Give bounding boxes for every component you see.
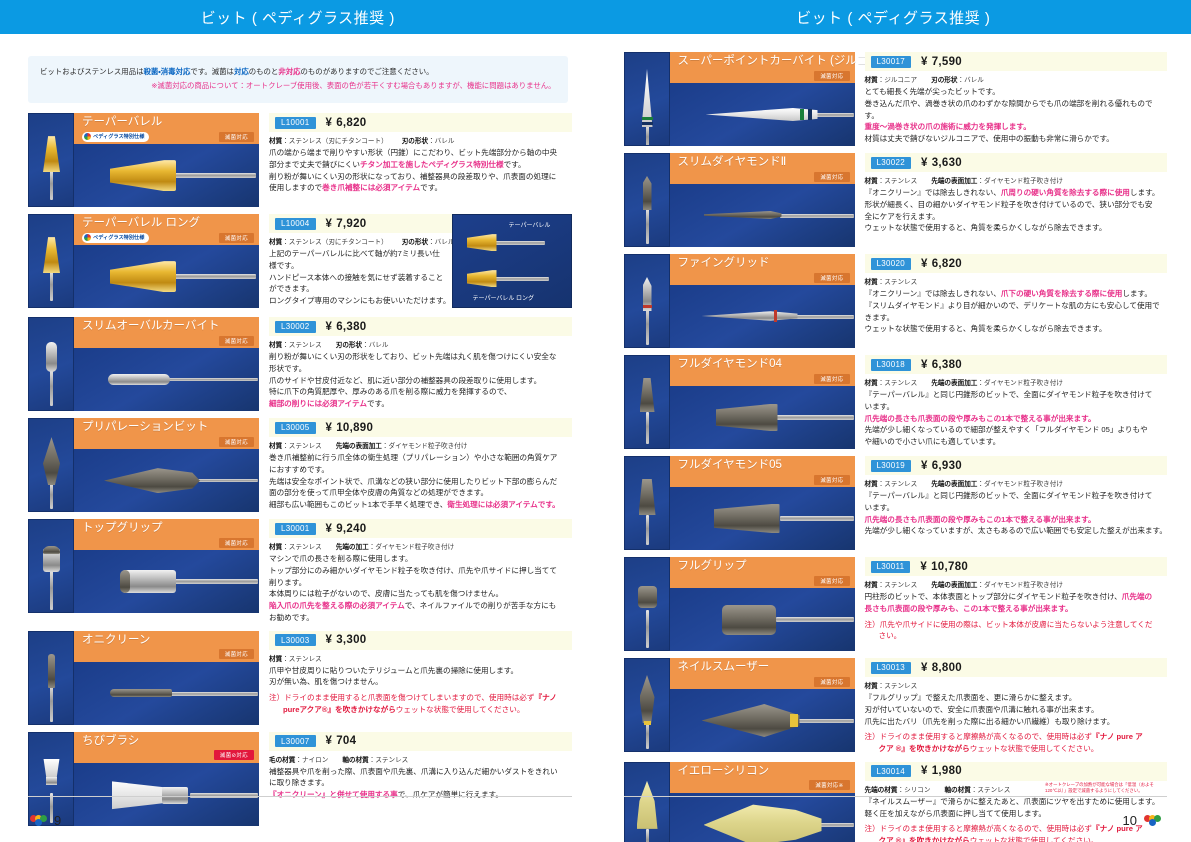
spec-primary: 材質：ステンレス	[269, 541, 322, 551]
product-badges: 滅菌対応※	[678, 780, 850, 791]
product-name: ちびブラシ	[82, 734, 253, 748]
desc-line: 爪先端の長さも爪表面の段や厚みもこの1本で整える事が出来ます。	[865, 413, 1168, 425]
product-name: オニクリーン	[82, 633, 253, 647]
product-description: 巻き爪補整前に行う爪全体の衛生処理（プリパレーション）や小さな範囲の角質ケアにお…	[269, 452, 572, 511]
sterilization-badge: 滅菌対応	[219, 437, 254, 447]
sterilization-badge: 滅菌対応	[814, 475, 849, 485]
desc-line: 『スリムダイヤモンド』より目が細かいので、デリケートな肌の方にも安心して使用で	[865, 300, 1168, 312]
notice-text-f: 非対応	[278, 67, 300, 76]
spec-label: 刃の形状	[336, 342, 362, 349]
spec-label: 先端の表面加工	[931, 178, 977, 185]
product-badges: 滅菌対応	[678, 272, 850, 283]
desc-line: 『オニクリーン』では除去しきれない、爪周りの硬い角質を除去する際に使用します。	[865, 187, 1168, 199]
product-price: ¥6,930	[921, 460, 962, 472]
spec-primary: 材質：ステンレス（刃にチタンコート）	[269, 236, 388, 246]
product-thumbnail	[624, 658, 670, 752]
product-info: L30007 ¥704 毛の材質：ナイロン 軸の材質：ステンレス 補整器具や爪を…	[259, 732, 572, 801]
spec-value: ダイヤモンド粒子吹き付け	[389, 443, 468, 450]
product-code: L10004	[275, 218, 316, 230]
product-description: 『オニクリーン』では除去しきれない、爪周りの硬い角質を除去する際に使用します。形…	[865, 187, 1168, 234]
desc-highlight: 巻き爪補整には必須アイテム	[322, 183, 420, 192]
product-photo	[670, 386, 855, 449]
right-product-list: スーパーポイントカーバイト (ジルコニア) 滅菌対応 L30017 ¥7,590…	[596, 52, 1191, 842]
product-name: スリムオーバルカーバイト	[82, 319, 253, 333]
desc-line: ウェットな状態で使用すると、角質を柔らかくしながら除去できます。	[865, 323, 1168, 335]
spec-value: ダイヤモンド粒子吹き付け	[984, 380, 1063, 387]
note-bold: pureアクア®』を吹きかけながら	[283, 705, 396, 714]
product-spec: 材質：ステンレス 刃の形状：バレル	[269, 339, 572, 349]
desc-highlight: 爪先端の	[1122, 592, 1152, 601]
yen-symbol: ¥	[326, 634, 333, 646]
spec-secondary: 軸の材質：ステンレス	[342, 754, 408, 764]
spec-value: ダイヤモンド粒子吹き付け	[984, 582, 1063, 589]
product-info: L30005 ¥10,890 材質：ステンレス 先端の表面加工：ダイヤモンド粒子…	[259, 418, 572, 511]
autoclave-note: ※オートクレーブの加熱が可能な場合は「低温（およそ120℃以）」設定で滅菌するよ…	[1045, 782, 1165, 794]
spec-label: 材質	[269, 656, 282, 663]
desc-line: 『テーパーバレル』と同じ円錐形のビットで、全面にダイヤモンド粒子を吹き付けて	[865, 389, 1168, 401]
product-title-bar: フルグリップ 滅菌対応	[670, 557, 855, 588]
product-title-bar: ネイルスムーザー 滅菌対応	[670, 658, 855, 689]
product-description: 爪甲や甘皮周りに貼りついたテリジュームと爪先裏の掃除に使用します。刃が無い為、肌…	[269, 665, 572, 689]
notice-text-g: のものがありますのでご注意ください。	[301, 67, 434, 76]
product-thumbnail	[624, 355, 670, 449]
desc-line: に取り除きます。	[269, 777, 572, 789]
product-thumbnail	[28, 113, 74, 207]
product-panel: ネイルスムーザー 滅菌対応	[670, 658, 855, 752]
brand-logo-icon	[1144, 815, 1161, 827]
spec-primary: 材質：ステンレス	[865, 175, 918, 185]
product-spec: 材質：ステンレス 先端の表面加工：ダイヤモンド粒子吹き付け	[865, 377, 1168, 387]
spec-secondary: 刃の形状：バレル	[402, 135, 455, 145]
left-page-number: 9	[54, 813, 61, 828]
desc-line: 部分まで丈夫で錆びにくいチタン加工を施したペディグラス特別仕様です。	[269, 159, 572, 171]
note-tail: ウェットな状態で使用してください。	[396, 705, 525, 714]
spec-value: ステンレス	[884, 279, 917, 286]
product-thumbnail	[624, 52, 670, 146]
product-spec: 材質：ステンレス	[865, 680, 1168, 690]
product-code-price: L30020 ¥6,820	[865, 254, 1168, 273]
product-price: ¥7,590	[921, 56, 962, 68]
product-panel: スーパーポイントカーバイト (ジルコニア) 滅菌対応	[670, 52, 855, 146]
left-product-list: テーパーバレル ペディグラス特別仕様滅菌対応 L10001 ¥6,820 材質：…	[0, 113, 596, 826]
product-code-price: L30019 ¥6,930	[865, 456, 1168, 475]
inset-label-bottom: テーパーバレル ロング	[473, 293, 535, 302]
spec-label: 材質	[865, 178, 878, 185]
desc-line: 材質は丈夫で錆びないジルコニアで、使用中の振動も非常に滑らかです。	[865, 133, 1168, 145]
spec-secondary: 刃の形状：バレル	[336, 339, 389, 349]
product-spec: 材質：ステンレス 先端の表面加工：ダイヤモンド粒子吹き付け	[865, 478, 1168, 488]
product-badges: 滅菌対応	[82, 537, 254, 548]
product-code: L10001	[275, 117, 316, 129]
product-info: L30022 ¥3,630 材質：ステンレス 先端の表面加工：ダイヤモンド粒子吹…	[855, 153, 1168, 234]
spec-secondary: 先端の加工：ダイヤモンド粒子吹き付け	[336, 541, 455, 551]
product-badges: 滅菌対応	[678, 373, 850, 384]
desc-highlight: 爪下の硬い角質を除去する際に使用	[1001, 289, 1123, 298]
product-name: スリムダイヤモンドⅡ	[678, 155, 849, 169]
spec-secondary: 先端の表面加工：ダイヤモンド粒子吹き付け	[931, 579, 1063, 589]
notice-text-e: のものと	[249, 67, 279, 76]
spec-label: 材質	[865, 481, 878, 488]
spec-primary: 材質：ステンレス	[865, 579, 918, 589]
spec-label: 刃の形状	[402, 138, 428, 145]
product-price: ¥6,820	[921, 258, 962, 270]
desc-highlight: 爪先端の長さも爪表面の段や厚みもこの1本で整える事が出来ます。	[865, 515, 1096, 524]
product-title-bar: イエローシリコン 滅菌対応※	[670, 762, 855, 793]
desc-line: 特に爪下の角質肥厚や、厚みのある爪を削る際に威力を発揮するので、	[269, 386, 572, 398]
product-description: 爪の端から端まで削りやすい形状（円錐）にこだわり、ビット先端部分から軸の中央部分…	[269, 147, 572, 194]
product-title-bar: オニクリーン 滅菌対応	[74, 631, 259, 662]
product-spec: 材質：ステンレス 先端の表面加工：ダイヤモンド粒子吹き付け	[865, 175, 1168, 185]
desc-line: マシンで爪の長さを削る際に使用します。	[269, 553, 572, 565]
note-bold: 『ナノ	[534, 693, 556, 702]
spec-label: 材質	[269, 342, 282, 349]
product-info: L10001 ¥6,820 材質：ステンレス（刃にチタンコート） 刃の形状：バレ…	[259, 113, 572, 194]
product-row: ネイルスムーザー 滅菌対応 L30013 ¥8,800 材質：ステンレス 『フル…	[596, 658, 1191, 755]
product-photo	[670, 83, 855, 146]
note-line-2: クア ®』を吹きかけながらウェットな状態で使用してください。	[865, 743, 1168, 755]
footer-rule	[28, 796, 572, 797]
product-code: L30007	[275, 735, 316, 747]
right-page-header: ビット ( ペディグラス推奨 )	[596, 0, 1191, 34]
spec-secondary: 先端の表面加工：ダイヤモンド粒子吹き付け	[931, 175, 1063, 185]
product-title-bar: スーパーポイントカーバイト (ジルコニア) 滅菌対応	[670, 52, 855, 83]
spec-secondary: 刃の形状：バレル	[402, 236, 455, 246]
product-thumbnail	[28, 418, 74, 512]
left-page: ビット ( ペディグラス推奨 ) ビットおよびステンレス用品は殺菌・消毒対応です…	[0, 0, 596, 842]
spec-primary: 材質：ステンレス	[269, 339, 322, 349]
notice-text-d: 対応	[234, 67, 249, 76]
desc-line: 細部も広い範囲もこのビット1本で手早く処理でき、衛生処理には必須アイテムです。	[269, 499, 572, 511]
product-panel: プリパレーションビット 滅菌対応	[74, 418, 259, 512]
product-photo	[74, 662, 259, 725]
product-description: 削り粉が舞いにくい刃の形状をしており、ビット先端は丸く肌を傷つけにくい安全な形状…	[269, 351, 572, 410]
spec-label: 材質	[269, 138, 282, 145]
sterilization-badge: 滅菌対応	[814, 677, 849, 687]
note-line-2: クア ®』を吹きかけながらウェットな状態で使用してください。	[865, 835, 1168, 842]
product-code: L30020	[871, 258, 912, 270]
product-description: 『オニクリーン』では除去しきれない、爪下の硬い角質を除去する際に使用します。『ス…	[865, 288, 1168, 335]
sterilization-badge: 滅菌⊘対応	[214, 750, 254, 760]
product-code-price: L30001 ¥9,240	[269, 519, 572, 538]
yen-symbol: ¥	[326, 422, 333, 434]
product-badges: 滅菌⊘対応	[82, 750, 254, 761]
product-panel: フルグリップ 滅菌対応	[670, 557, 855, 651]
desc-line: 円柱形のビットで、本体表面とトップ部分にダイヤモンド粒子を吹き付け、爪先端の	[865, 591, 1168, 603]
note-bold: クア ®』を吹きかけながら	[879, 836, 970, 842]
product-code: L30005	[275, 422, 316, 434]
sterilization-badge: 滅菌対応	[219, 538, 254, 548]
spec-value: ステンレス	[884, 178, 917, 185]
spec-label: 先端の材質	[865, 787, 898, 794]
spec-value: ダイヤモンド粒子吹き付け	[984, 178, 1063, 185]
yen-symbol: ¥	[326, 735, 333, 747]
spec-label: 先端の表面加工	[931, 481, 977, 488]
product-row: フルダイヤモンド04 滅菌対応 L30018 ¥6,380 材質：ステンレス 先…	[596, 355, 1191, 449]
desc-line: 先端は安全なポイント状で、爪溝などの狭い部分に使用したりビット下部の膨らんだ	[269, 476, 572, 488]
product-panel: スリムオーバルカーバイト 滅菌対応	[74, 317, 259, 411]
product-panel: トップグリップ 滅菌対応	[74, 519, 259, 613]
spec-label: 材質	[269, 443, 282, 450]
notice-line-2: ※滅菌対応の商品について：オートクレーブ使用後、表面の色が若干くすむ場合もありま…	[40, 79, 556, 93]
product-info: L30017 ¥7,590 材質：ジルコニア 刃の形状：バレル とても細長く先端…	[855, 52, 1168, 145]
sterilization-badge: 滅菌対応	[814, 273, 849, 283]
product-row: テーパーバレル ロング ペディグラス特別仕様滅菌対応 L10004 ¥7,920…	[0, 214, 596, 310]
product-code: L30002	[275, 321, 316, 333]
usage-warning: 注）ドライのまま使用すると摩擦熱が高くなるので、使用時は必ず『ナノ pure ア…	[865, 731, 1168, 755]
spec-value: ステンレス	[977, 787, 1010, 794]
spec-value: ナイロン	[302, 757, 328, 764]
desc-highlight: 『オニクリーン』と併せて使用する事	[269, 790, 398, 799]
spec-value: バレル	[435, 138, 455, 145]
spec-label: 材質	[865, 380, 878, 387]
spec-primary: 材質：ステンレス	[865, 276, 918, 286]
product-price: ¥10,780	[920, 561, 968, 573]
product-info: L30011 ¥10,780 材質：ステンレス 先端の表面加工：ダイヤモンド粒子…	[855, 557, 1168, 642]
spec-value: ステンレス（刃にチタンコート）	[289, 138, 388, 145]
spec-value: ステンレス	[884, 582, 917, 589]
product-title-bar: トップグリップ 滅菌対応	[74, 519, 259, 550]
product-name: ネイルスムーザー	[678, 660, 849, 674]
spec-primary: 材質：ステンレス	[865, 478, 918, 488]
desc-highlight: チタン加工を施したペディグラス特別仕様	[360, 160, 504, 169]
yen-symbol: ¥	[921, 765, 928, 777]
comparison-inset: テーパーバレル テーパーバレル ロング	[452, 214, 572, 308]
spec-primary: 材質：ステンレス	[269, 440, 322, 450]
product-info: L30002 ¥6,380 材質：ステンレス 刃の形状：バレル 削り粉が舞いにく…	[259, 317, 572, 410]
pedigrass-badge-label: ペディグラス特別仕様	[93, 234, 144, 241]
product-name: スーパーポイントカーバイト (ジルコニア)	[678, 54, 849, 68]
sterilization-badge: 滅菌対応	[219, 336, 254, 346]
product-price: ¥1,980	[921, 765, 962, 777]
desc-line: とても細長く先端が尖ったビットです。	[865, 86, 1168, 98]
notice-line-1: ビットおよびステンレス用品は殺菌・消毒対応です。滅菌は対応のものと非対応のものが…	[40, 65, 556, 79]
product-row: スリムダイヤモンドⅡ 滅菌対応 L30022 ¥3,630 材質：ステンレス 先…	[596, 153, 1191, 247]
usage-warning: 注）爪先や爪サイドに使用の際は、ビット本体が皮膚に当たらないよう注意してください…	[865, 619, 1168, 643]
sterilization-badge: 滅菌対応	[219, 132, 254, 142]
product-name: フルダイヤモンド04	[678, 357, 849, 371]
product-spec: 材質：ステンレス	[865, 276, 1168, 286]
yen-symbol: ¥	[921, 56, 928, 68]
spec-label: 先端の表面加工	[931, 582, 977, 589]
spec-primary: 先端の材質：シリコン	[865, 784, 931, 794]
left-page-header: ビット ( ペディグラス推奨 )	[0, 0, 596, 34]
product-description: とても細長く先端が尖ったビットです。巻き込んだ爪や、渦巻き状の爪のわずかな隙間か…	[865, 86, 1168, 145]
note-text: 注）爪先や爪サイドに使用の際は、ビット本体が皮膚に当たらないよう注意してくだ	[865, 620, 1153, 629]
product-photo	[74, 550, 259, 613]
desc-line: 刃が無い為、肌を傷つけません。	[269, 676, 572, 688]
product-code: L30018	[871, 359, 912, 371]
product-code-price: L30018 ¥6,380	[865, 355, 1168, 374]
product-thumbnail	[28, 519, 74, 613]
product-price: ¥9,240	[326, 523, 367, 535]
product-name: ファイングリッド	[678, 256, 849, 270]
product-code-price: L30013 ¥8,800	[865, 658, 1168, 677]
desc-line: 本体周りには粒子がないので、皮膚に当たっても肌を傷つけません。	[269, 588, 572, 600]
product-name: テーパーバレル ロング	[82, 216, 253, 230]
product-spec: 材質：ステンレス 先端の表面加工：ダイヤモンド粒子吹き付け	[865, 579, 1168, 589]
product-description: マシンで爪の長さを削る際に使用します。トップ部分にのみ細かいダイヤモンド粒子を吹…	[269, 553, 572, 624]
product-price: ¥6,380	[326, 321, 367, 333]
product-panel: テーパーバレル ロング ペディグラス特別仕様滅菌対応	[74, 214, 259, 308]
notice-text-a: ビットおよびステンレス用品は	[40, 67, 143, 76]
desc-highlight: 爪先端の長さも爪表面の段や厚みもこの1本で整える事が出来ます。	[865, 414, 1096, 423]
spec-value: バレル	[964, 77, 984, 84]
spec-value: ジルコニア	[884, 77, 917, 84]
product-name: プリパレーションビット	[82, 420, 253, 434]
right-page-number-block: 10	[1123, 813, 1161, 828]
product-title-bar: スリムダイヤモンドⅡ 滅菌対応	[670, 153, 855, 184]
spec-label: 軸の材質	[944, 787, 970, 794]
product-panel: フルダイヤモンド04 滅菌対応	[670, 355, 855, 449]
yen-symbol: ¥	[921, 258, 928, 270]
desc-line: 爪先に出たバリ（爪先を削った際に出る細かい爪繊維）も取り除けます。	[865, 716, 1168, 728]
product-name: テーパーバレル	[82, 115, 253, 129]
product-spec: 材質：ジルコニア 刃の形状：バレル	[865, 74, 1168, 84]
product-photo	[670, 689, 855, 752]
note-text: 注）ドライのまま使用すると爪表面を傷つけてしまいますので、使用時は必ず	[269, 693, 534, 702]
product-badges: 滅菌対応	[678, 474, 850, 485]
product-title-bar: フルダイヤモンド05 滅菌対応	[670, 456, 855, 487]
product-code: L30019	[871, 460, 912, 472]
desc-highlight: 重度～渦巻き状の爪の施術に威力を発揮します。	[865, 122, 1031, 131]
spec-primary: 毛の材質：ナイロン	[269, 754, 328, 764]
product-info: L30019 ¥6,930 材質：ステンレス 先端の表面加工：ダイヤモンド粒子吹…	[855, 456, 1168, 537]
pedigrass-special-badge: ペディグラス特別仕様	[82, 233, 149, 243]
right-footer: 10	[596, 802, 1191, 828]
product-spec: 毛の材質：ナイロン 軸の材質：ステンレス	[269, 754, 572, 764]
product-code-price: L30005 ¥10,890	[269, 418, 572, 437]
sterilization-badge: 滅菌対応	[814, 71, 849, 81]
inset-label-top: テーパーバレル	[509, 220, 551, 229]
spec-secondary: 先端の表面加工：ダイヤモンド粒子吹き付け	[931, 478, 1063, 488]
product-row: ファイングリッド 滅菌対応 L30020 ¥6,820 材質：ステンレス 『オニ…	[596, 254, 1191, 348]
desc-highlight: 細部の削りには必須アイテム	[269, 399, 367, 408]
spec-value: シリコン	[904, 787, 930, 794]
desc-highlight: 長さも爪表面の段や厚みも、この1本で整える事が出来ます。	[865, 604, 1073, 613]
product-badges: ペディグラス特別仕様滅菌対応	[82, 131, 254, 142]
product-title-bar: ファイングリッド 滅菌対応	[670, 254, 855, 285]
product-row: テーパーバレル ペディグラス特別仕様滅菌対応 L10001 ¥6,820 材質：…	[0, 113, 596, 207]
desc-line: や細いので小さい爪にも適しています。	[865, 436, 1168, 448]
spec-label: 材質	[865, 279, 878, 286]
desc-highlight: 爪周りの硬い角質を除去する際に使用	[1001, 188, 1130, 197]
spec-secondary: 先端の表面加工：ダイヤモンド粒子吹き付け	[931, 377, 1063, 387]
desc-line: 爪のサイドや甘皮付近など、肌に近い部分の補整器具の段差取りに使用します。	[269, 375, 572, 387]
desc-line: 巻き爪補整前に行う爪全体の衛生処理（プリパレーション）や小さな範囲の角質ケア	[269, 452, 572, 464]
product-info: L30020 ¥6,820 材質：ステンレス 『オニクリーン』では除去しきれない…	[855, 254, 1168, 335]
desc-line: 補整器具や爪を削った際、爪表面や爪先裏、爪溝に入り込んだ細かいダストをきれい	[269, 766, 572, 778]
product-description: 『フルグリップ』で整えた爪表面を、更に滑らかに整えます。刃が付いていないので、安…	[865, 692, 1168, 727]
brand-logo-icon	[30, 815, 47, 827]
product-spec: 材質：ステンレス（刃にチタンコート） 刃の形状：バレル	[269, 135, 572, 145]
desc-line: います。	[865, 401, 1168, 413]
spec-secondary: 軸の材質：ステンレス	[944, 784, 1010, 794]
product-price: ¥6,820	[326, 117, 367, 129]
product-thumbnail	[624, 153, 670, 247]
yen-symbol: ¥	[921, 157, 928, 169]
desc-line: ウェットな状態で使用すると、角質を柔らかくしながら除去できます。	[865, 222, 1168, 234]
product-code-price: L30017 ¥7,590	[865, 52, 1168, 71]
spec-primary: 材質：ジルコニア	[865, 74, 918, 84]
sterilization-notice: ビットおよびステンレス用品は殺菌・消毒対応です。滅菌は対応のものと非対応のものが…	[28, 56, 568, 103]
product-photo	[74, 449, 259, 512]
yen-symbol: ¥	[326, 117, 333, 129]
spec-label: 軸の材質	[342, 757, 368, 764]
product-info: L10004 ¥7,920 材質：ステンレス（刃にチタンコート） 刃の形状：バレ…	[259, 214, 572, 310]
desc-line: 先端が少し細くなっていますが、太さもあるので広い範囲でも安定した整えが出来ます。	[865, 525, 1168, 537]
spec-value: ステンレス	[289, 342, 322, 349]
desc-line: 爪甲や甘皮周りに貼りついたテリジュームと爪先裏の掃除に使用します。	[269, 665, 572, 677]
product-price: ¥10,890	[326, 422, 374, 434]
product-description: 『テーパーバレル』と同じ円錐形のビットで、全面にダイヤモンド粒子を吹き付けていま…	[865, 490, 1168, 537]
product-code-price: L30002 ¥6,380	[269, 317, 572, 336]
desc-line: 『テーパーバレル』と同じ円錐形のビットで、全面にダイヤモンド粒子を吹き付けて	[865, 490, 1168, 502]
pedigrass-logo-icon	[84, 234, 91, 241]
spec-label: 先端の表面加工	[931, 380, 977, 387]
pedigrass-logo-icon	[84, 133, 91, 140]
footer-rule	[624, 796, 1168, 797]
product-row: スーパーポイントカーバイト (ジルコニア) 滅菌対応 L30017 ¥7,590…	[596, 52, 1191, 146]
spec-primary: 材質：ステンレス	[865, 680, 918, 690]
product-code: L30014	[871, 765, 912, 777]
note-bold: 『ナノ pure ア	[1092, 732, 1143, 741]
product-badges: 滅菌対応	[82, 335, 254, 346]
product-panel: スリムダイヤモンドⅡ 滅菌対応	[670, 153, 855, 247]
sterilization-badge: 滅菌対応	[814, 576, 849, 586]
product-name: トップグリップ	[82, 521, 253, 535]
product-description: 『テーパーバレル』と同じ円錐形のビットで、全面にダイヤモンド粒子を吹き付けていま…	[865, 389, 1168, 448]
yen-symbol: ¥	[326, 218, 333, 230]
left-page-title: ビット ( ペディグラス推奨 )	[201, 7, 395, 28]
desc-line: 削り粉が舞いにくい刃の形状をしており、ビット先端は丸く肌を傷つけにくい安全な	[269, 351, 572, 363]
product-photo	[670, 588, 855, 651]
left-page-number-block: 9	[30, 813, 61, 828]
yen-symbol: ¥	[921, 359, 928, 371]
product-spec: 材質：ステンレス 先端の表面加工：ダイヤモンド粒子吹き付け	[269, 440, 572, 450]
spec-primary: 材質：ステンレス	[865, 377, 918, 387]
product-photo	[74, 144, 259, 207]
desc-line: 爪先端の長さも爪表面の段や厚みもこの1本で整える事が出来ます。	[865, 514, 1168, 526]
product-panel: テーパーバレル ペディグラス特別仕様滅菌対応	[74, 113, 259, 207]
pedigrass-special-badge: ペディグラス特別仕様	[82, 132, 149, 142]
product-title-bar: スリムオーバルカーバイト 滅菌対応	[74, 317, 259, 348]
product-row: オニクリーン 滅菌対応 L30003 ¥3,300 材質：ステンレス 爪甲や甘皮…	[0, 631, 596, 725]
desc-line: 『オニクリーン』では除去しきれない、爪下の硬い角質を除去する際に使用します。	[865, 288, 1168, 300]
spec-label: 先端の表面加工	[336, 443, 382, 450]
product-code: L30017	[871, 56, 912, 68]
spec-value: ステンレス	[289, 443, 322, 450]
product-badges: 滅菌対応	[82, 436, 254, 447]
product-photo	[74, 348, 259, 411]
product-badges: 滅菌対応	[678, 676, 850, 687]
product-title-bar: ちびブラシ 滅菌⊘対応	[74, 732, 259, 763]
spec-value: ステンレス	[884, 481, 917, 488]
product-code-price: L10001 ¥6,820	[269, 113, 572, 132]
desc-line: 爪の端から端まで削りやすい形状（円錐）にこだわり、ビット先端部分から軸の中央	[269, 147, 572, 159]
desc-line: 細部の削りには必須アイテムです。	[269, 398, 572, 410]
spec-label: 毛の材質	[269, 757, 295, 764]
product-badges: ペディグラス特別仕様滅菌対応	[82, 232, 254, 243]
product-info: L30003 ¥3,300 材質：ステンレス 爪甲や甘皮周りに貼りついたテリジュ…	[259, 631, 572, 716]
product-panel: ファイングリッド 滅菌対応	[670, 254, 855, 348]
notice-text-b: 殺菌・消毒対応	[143, 67, 190, 76]
notice-text-c: です。滅菌は	[190, 67, 234, 76]
product-code: L30022	[871, 157, 912, 169]
product-row: フルグリップ 滅菌対応 L30011 ¥10,780 材質：ステンレス 先端の表…	[596, 557, 1191, 651]
yen-symbol: ¥	[920, 561, 927, 573]
product-badges: 滅菌対応	[678, 171, 850, 182]
spec-value: ダイヤモンド粒子吹き付け	[375, 544, 454, 551]
